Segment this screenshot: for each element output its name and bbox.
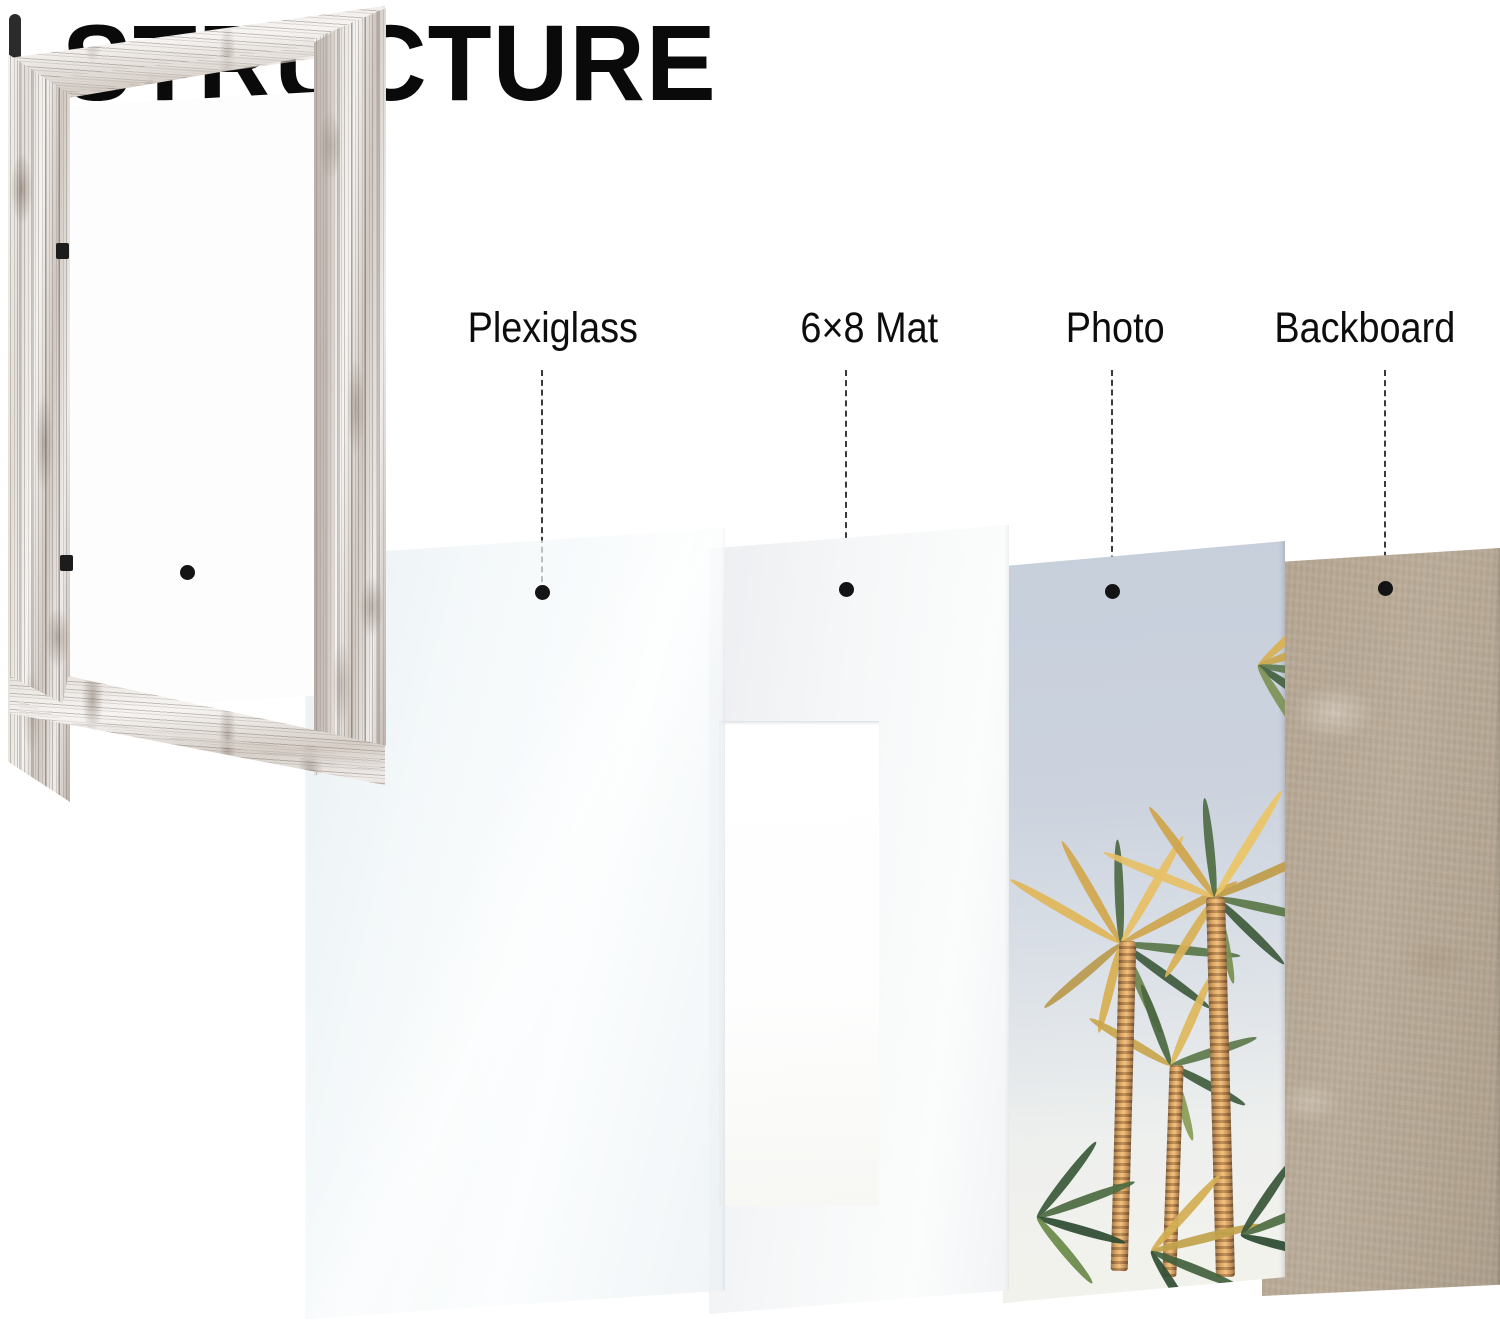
wooden-frame-panel xyxy=(0,0,382,800)
frame-retaining-clip-upper xyxy=(56,243,69,259)
leader-dot-mat-board xyxy=(839,582,854,597)
frame-stile-right-inner-shadow xyxy=(314,12,334,772)
leader-dot-photo xyxy=(1105,584,1120,599)
mat-window-showthrough xyxy=(719,721,879,1206)
leader-dot-wooden-frame xyxy=(180,565,195,580)
mat-bevel-top-edge xyxy=(719,721,879,725)
palm-trunk-left xyxy=(1111,941,1137,1271)
photo-panel xyxy=(1003,541,1285,1303)
frame-inner-opening xyxy=(52,92,314,712)
leader-dot-backboard xyxy=(1378,581,1393,596)
leader-dot-plexiglass xyxy=(535,585,550,600)
exploded-view-stack xyxy=(0,0,1500,1339)
backboard-panel xyxy=(1262,548,1500,1296)
mat-window-cutout xyxy=(719,721,879,1206)
mat-board-panel xyxy=(709,525,1009,1314)
frame-retaining-clip-lower xyxy=(60,555,73,571)
